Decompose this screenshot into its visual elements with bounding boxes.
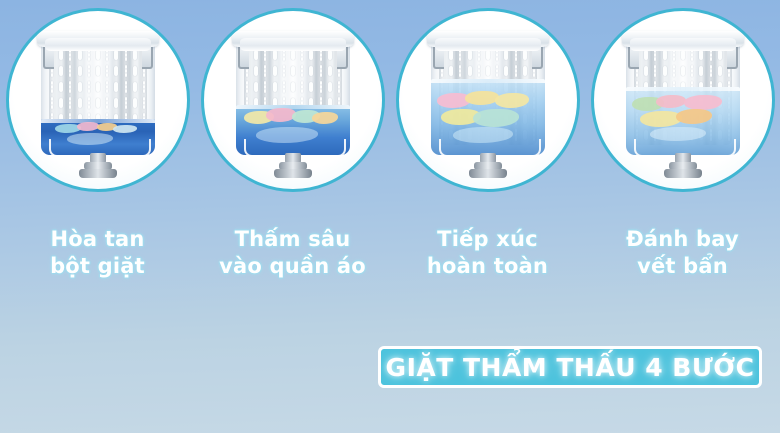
- step-illustration-circle-1: [6, 8, 190, 192]
- steps-row: [0, 0, 780, 225]
- step-panel-1: [4, 8, 192, 216]
- step-panel-2: [199, 8, 387, 216]
- drum-pedestal-1: [78, 153, 118, 181]
- step-illustration-circle-4: [591, 8, 775, 192]
- step-caption-1-line1: Hòa tan: [0, 226, 195, 253]
- step-caption-1: Hòa tan bột giặt: [0, 226, 195, 280]
- step-caption-2: Thấm sâu vào quần áo: [195, 226, 390, 280]
- step-caption-3-line2: hoàn toàn: [390, 253, 585, 280]
- step-captions: Hòa tan bột giặt Thấm sâu vào quần áo Ti…: [0, 226, 780, 318]
- step-caption-2-line2: vào quần áo: [195, 253, 390, 280]
- step-caption-2-line1: Thấm sâu: [195, 226, 390, 253]
- step-caption-4-line2: vết bẩn: [585, 253, 780, 280]
- promo-graphic: Hòa tan bột giặt Thấm sâu vào quần áo Ti…: [0, 0, 780, 433]
- drum-pedestal-3: [468, 153, 508, 181]
- step-illustration-circle-3: [396, 8, 580, 192]
- drum-pedestal-4: [663, 153, 703, 181]
- step-caption-3: Tiếp xúc hoàn toàn: [390, 226, 585, 280]
- step-caption-4-line1: Đánh bay: [585, 226, 780, 253]
- washing-machine-drum-icon-1: [35, 29, 161, 179]
- step-caption-4: Đánh bay vết bẩn: [585, 226, 780, 280]
- step-illustration-circle-2: [201, 8, 385, 192]
- washing-machine-drum-icon-4: [620, 29, 746, 179]
- headline-banner: GIẶT THẨM THẤU 4 BƯỚC: [378, 346, 762, 388]
- washing-machine-drum-icon-3: [425, 29, 551, 179]
- washing-machine-drum-icon-2: [230, 29, 356, 179]
- step-caption-3-line1: Tiếp xúc: [390, 226, 585, 253]
- step-panel-3: [394, 8, 582, 216]
- step-caption-1-line2: bột giặt: [0, 253, 195, 280]
- step-panel-4: [589, 8, 777, 216]
- headline-banner-text: GIẶT THẨM THẤU 4 BƯỚC: [386, 353, 755, 382]
- drum-pedestal-2: [273, 153, 313, 181]
